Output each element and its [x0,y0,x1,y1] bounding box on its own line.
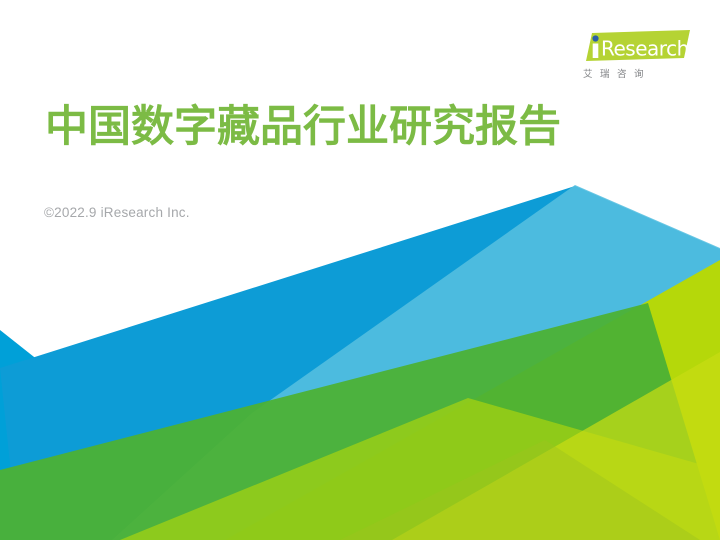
logo-wordmark-svg: Research [578,30,690,64]
logo-chinese-name: 艾瑞咨询 [583,66,687,80]
logo-i-dot-icon [592,35,598,41]
iresearch-logo[interactable]: Research 艾瑞咨询 [578,30,690,88]
logo-wordmark: Research [578,30,690,64]
logo-i-stem-icon [593,44,599,59]
page-title: 中国数字藏品行业研究报告 [45,104,561,150]
logo-research-text: Research [601,37,689,61]
report-cover-slide: 中国数字藏品行业研究报告 ©2022.9 iResearch Inc. Rese… [0,0,720,540]
copyright-line: ©2022.9 iResearch Inc. [44,205,190,220]
